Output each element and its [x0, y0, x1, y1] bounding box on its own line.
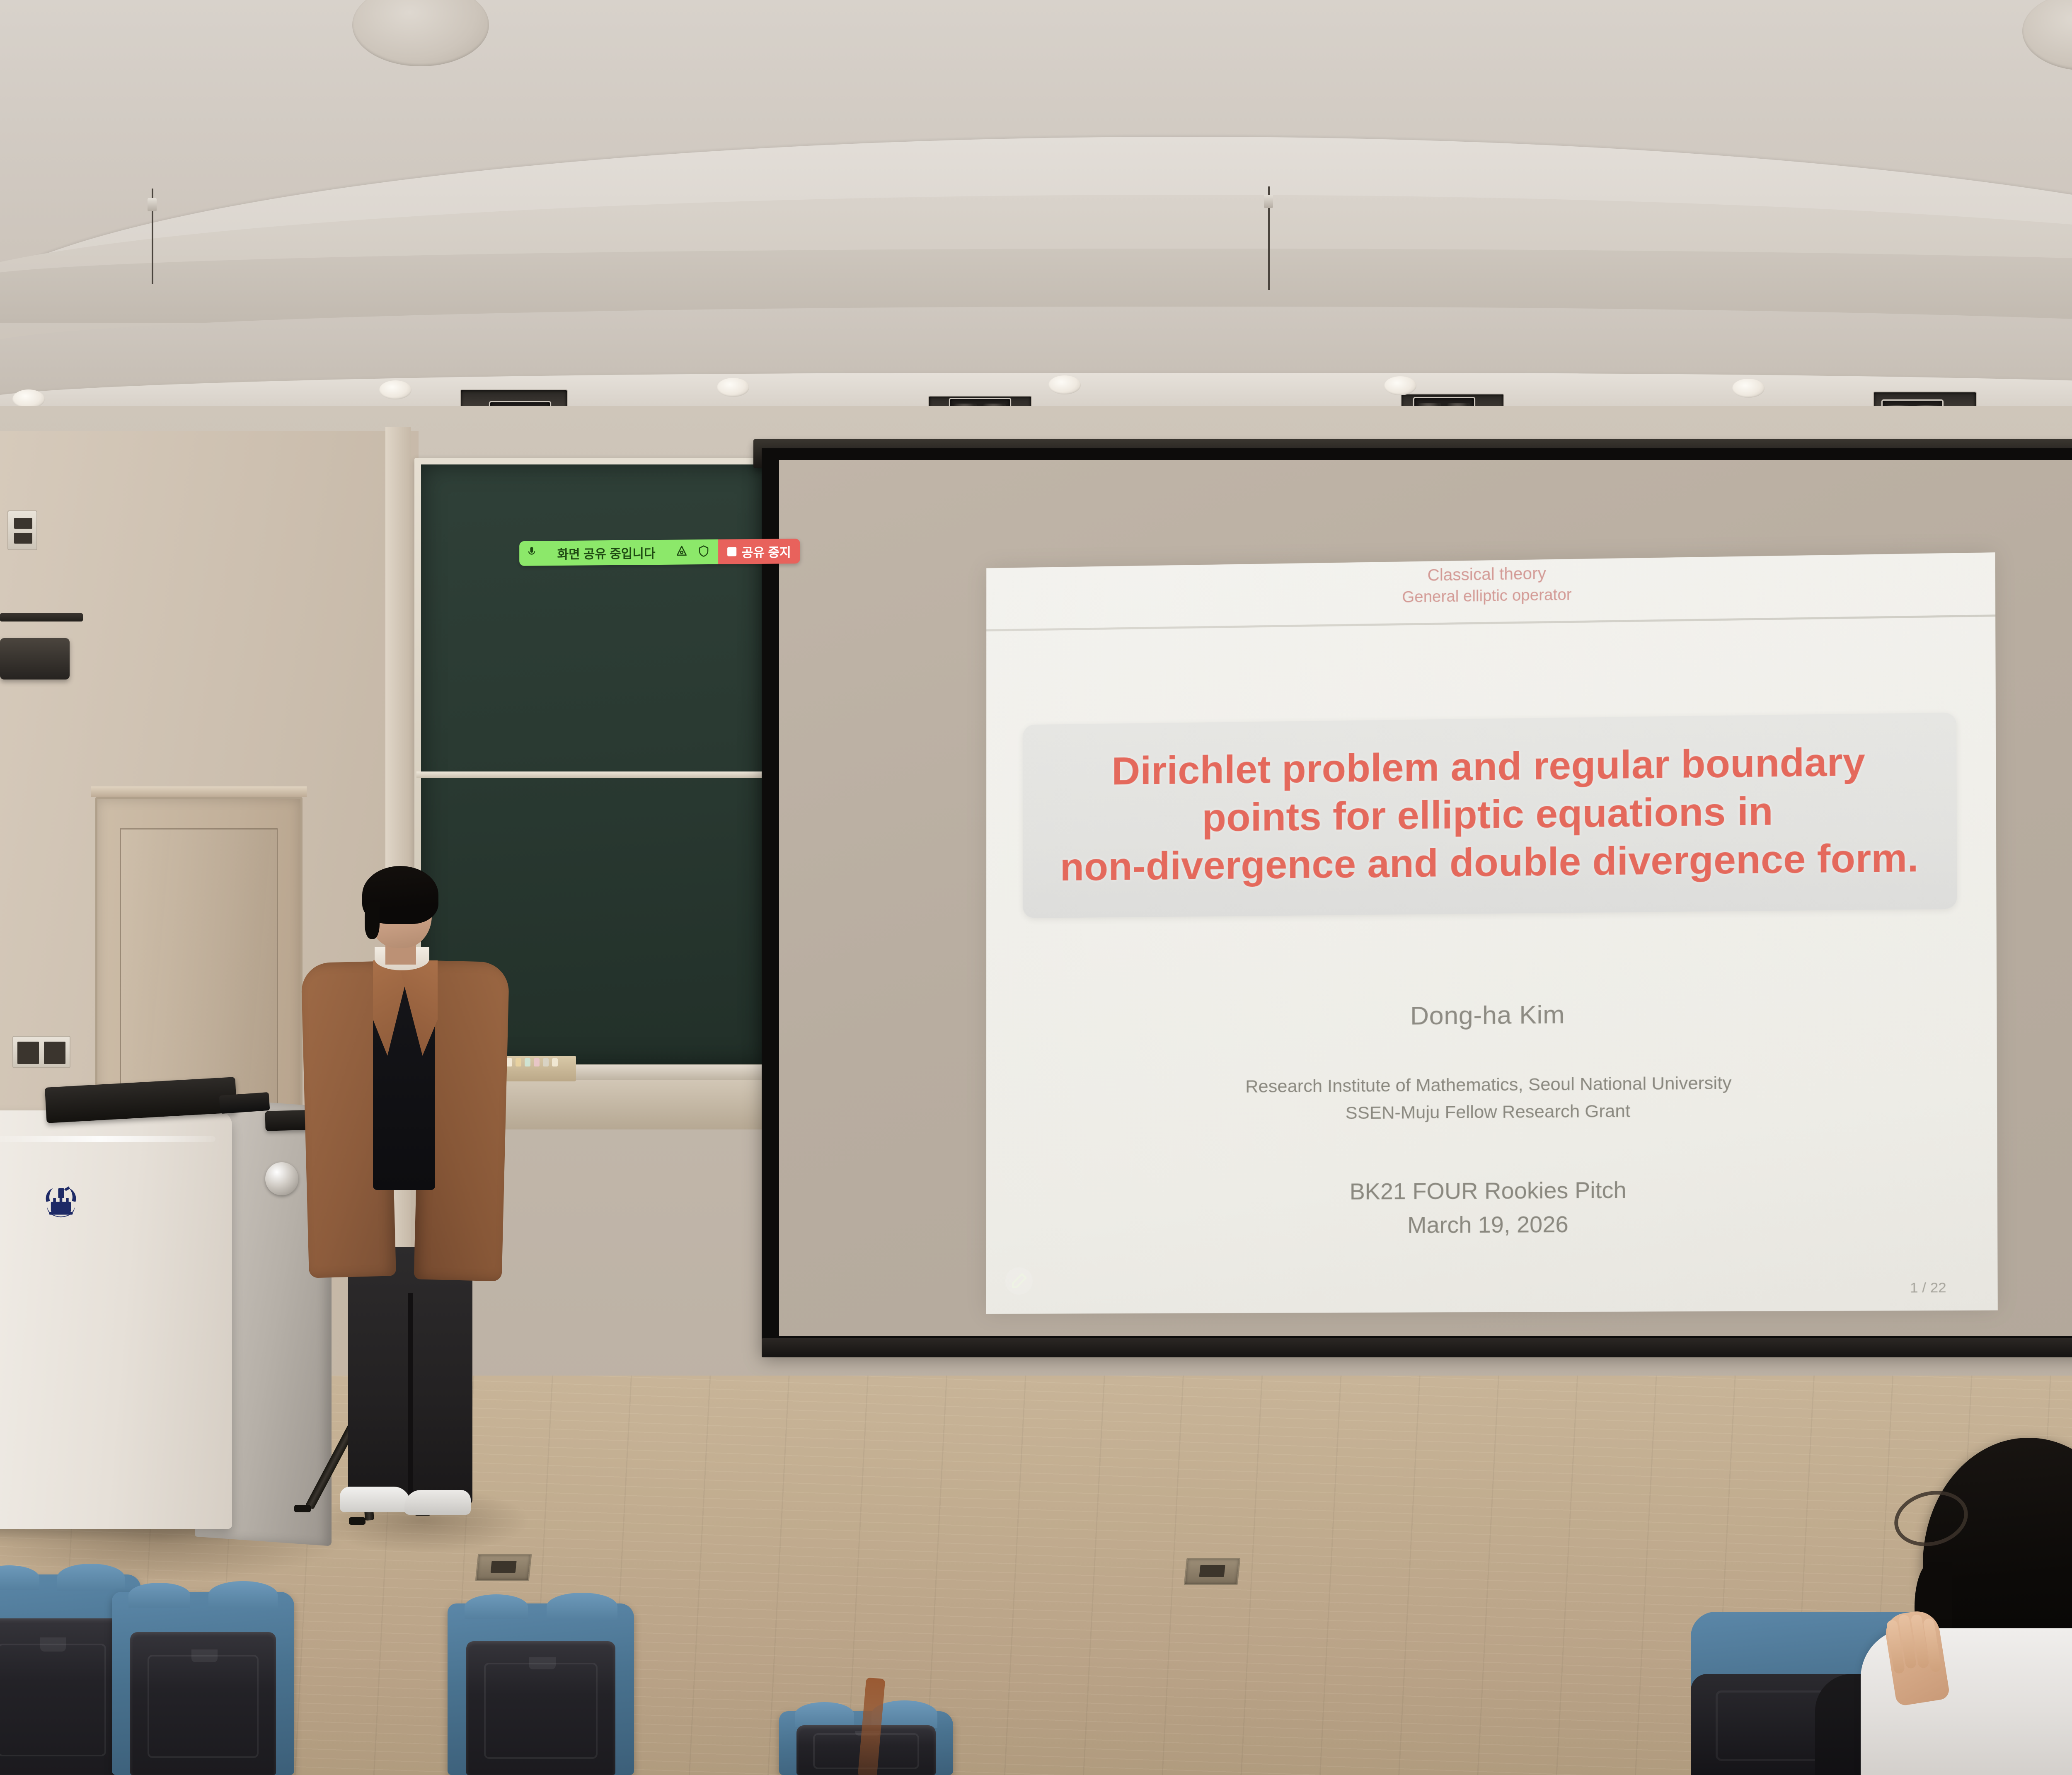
lecture-hall-scene: Classical theory General elliptic operat…	[0, 0, 2072, 1775]
ceiling-projector-icon	[0, 613, 83, 621]
auditorium-seat[interactable]	[112, 1592, 294, 1775]
venue-line-2: March 19, 2026	[986, 1205, 1997, 1244]
chalkboard-divider	[416, 771, 769, 778]
shield-icon[interactable]	[697, 544, 710, 559]
slide-breadcrumb: Classical theory General elliptic operat…	[986, 556, 1995, 614]
pen-annotate-icon[interactable]	[1005, 1267, 1033, 1294]
floor-outlet-icon	[475, 1554, 532, 1581]
floor-outlet-icon	[1184, 1558, 1241, 1585]
venue-line-1: BK21 FOUR Rookies Pitch	[986, 1171, 1997, 1211]
ceiling-hanger-clip	[148, 198, 157, 211]
slide-author: Dong-ha Kim	[986, 996, 1997, 1034]
presenter-leg-split	[408, 1293, 413, 1504]
projector-screen-bottom-bar	[762, 1338, 2072, 1357]
projected-slide: Classical theory General elliptic operat…	[986, 552, 1998, 1314]
title-line-3: non-divergence and double divergence for…	[1039, 834, 1940, 891]
seat-shell	[0, 1618, 123, 1775]
ceiling-hanger-clip	[1264, 195, 1273, 208]
presenter-shoe-left	[340, 1487, 410, 1512]
slide-affiliation: Research Institute of Mathematics, Seoul…	[986, 1068, 1997, 1129]
stop-square-icon	[728, 547, 737, 556]
auditorium-seat[interactable]	[448, 1603, 634, 1775]
slide-page-indicator: 1 / 22	[1910, 1280, 1946, 1296]
wall-switch-panel[interactable]	[12, 1036, 70, 1068]
presenter-shoe-right	[404, 1490, 471, 1515]
wall-socket-icon[interactable]	[7, 510, 37, 550]
slide-header-rule	[986, 614, 1995, 631]
slide-title-card: Dirichlet problem and regular boundary p…	[1023, 713, 1957, 918]
screen-share-toolbar: 화면 공유 중입니다 공유 중지	[519, 539, 800, 566]
stop-sharing-button[interactable]: 공유 중지	[719, 539, 800, 564]
stop-sharing-label: 공유 중지	[742, 542, 791, 561]
annotate-icon[interactable]	[675, 544, 688, 560]
university-crest-icon	[38, 1180, 84, 1226]
recessed-downlight-icon	[1048, 375, 1081, 394]
projector-screen-surface: Classical theory General elliptic operat…	[779, 460, 2072, 1336]
slide-venue: BK21 FOUR Rookies Pitch March 19, 2026	[986, 1171, 1997, 1244]
share-status-label: 화면 공유 중입니다	[547, 543, 666, 562]
seat-shell	[130, 1632, 276, 1775]
microphone-stand-foot	[294, 1505, 311, 1512]
chalk-box	[501, 1056, 576, 1081]
seat-shell	[466, 1641, 615, 1775]
recessed-downlight-icon	[717, 378, 749, 397]
microphone-icon[interactable]	[526, 546, 537, 561]
podium-knob-icon[interactable]	[265, 1162, 298, 1195]
podium	[0, 1110, 232, 1529]
recessed-downlight-icon	[1732, 379, 1765, 398]
podium-highlight	[0, 1136, 215, 1142]
recessed-downlight-icon	[1384, 376, 1416, 395]
ceiling-projector-body	[0, 638, 70, 680]
microphone-stand-foot	[349, 1517, 366, 1525]
recessed-downlight-icon	[379, 380, 411, 399]
left-door-header	[91, 786, 307, 797]
presenter-hair	[362, 866, 438, 924]
podium-monitor-secondary	[219, 1092, 270, 1114]
share-status-group: 화면 공유 중입니다	[519, 539, 718, 566]
